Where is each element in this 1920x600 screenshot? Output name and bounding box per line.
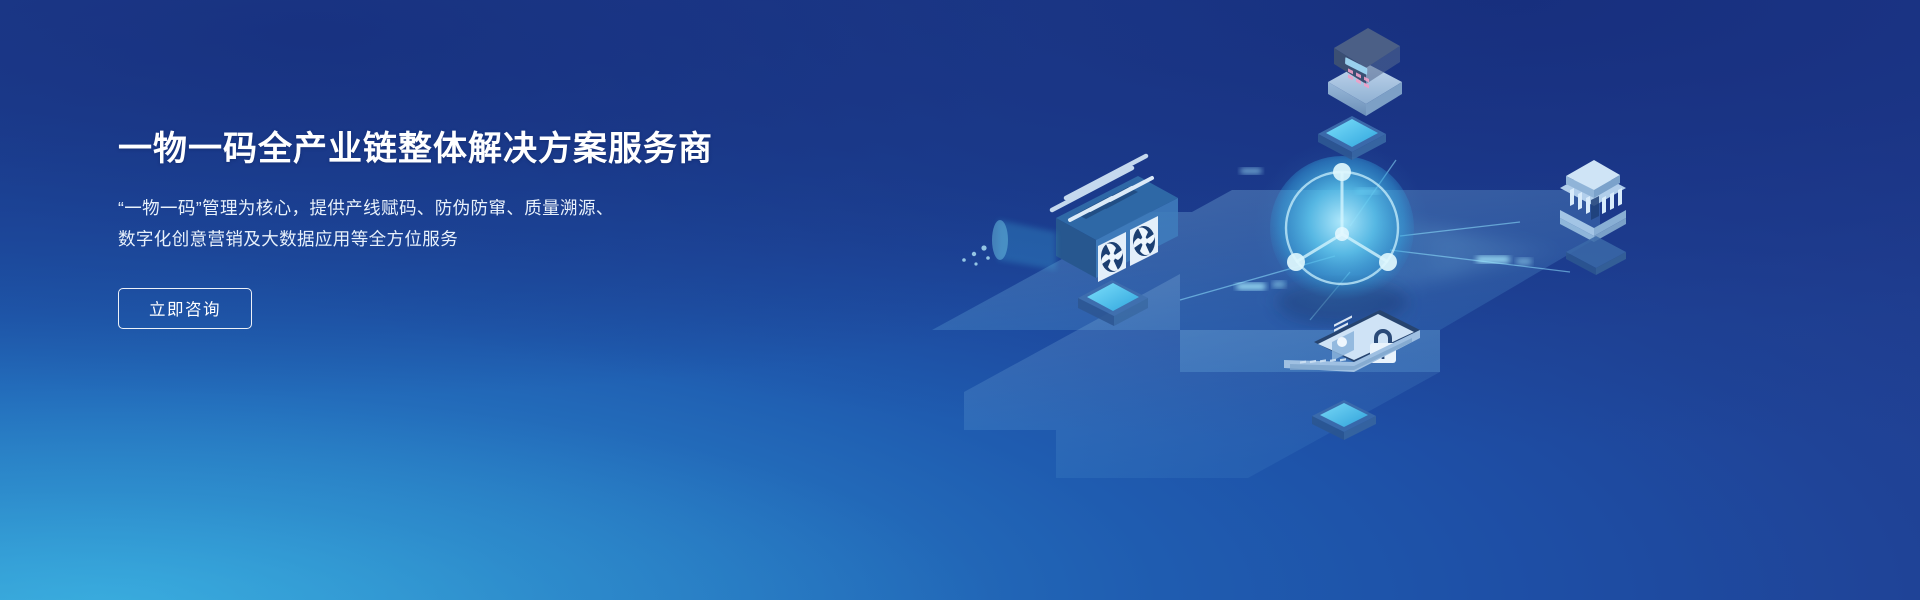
page-title: 一物一码全产业链整体解决方案服务商 xyxy=(118,128,818,171)
hero-illustration xyxy=(880,0,1920,600)
airflow-cone xyxy=(962,220,1056,270)
hero-copy: 一物一码全产业链整体解决方案服务商 “一物一码”管理为核心，提供产线赋码、防伪防… xyxy=(118,128,818,329)
consult-now-button[interactable]: 立即咨询 xyxy=(118,288,252,329)
network-sphere-icon xyxy=(1254,140,1430,324)
subtitle-line-1: “一物一码”管理为核心，提供产线赋码、防伪防窜、质量溯源、 xyxy=(118,193,818,224)
hero-banner: 一物一码全产业链整体解决方案服务商 “一物一码”管理为核心，提供产线赋码、防伪防… xyxy=(0,0,1920,600)
hero-subtitle: “一物一码”管理为核心，提供产线赋码、防伪防窜、质量溯源、 数字化创意营销及大数… xyxy=(118,193,818,255)
pos-terminal-icon xyxy=(1328,28,1402,116)
subtitle-line-2: 数字化创意营销及大数据应用等全方位服务 xyxy=(118,224,818,255)
